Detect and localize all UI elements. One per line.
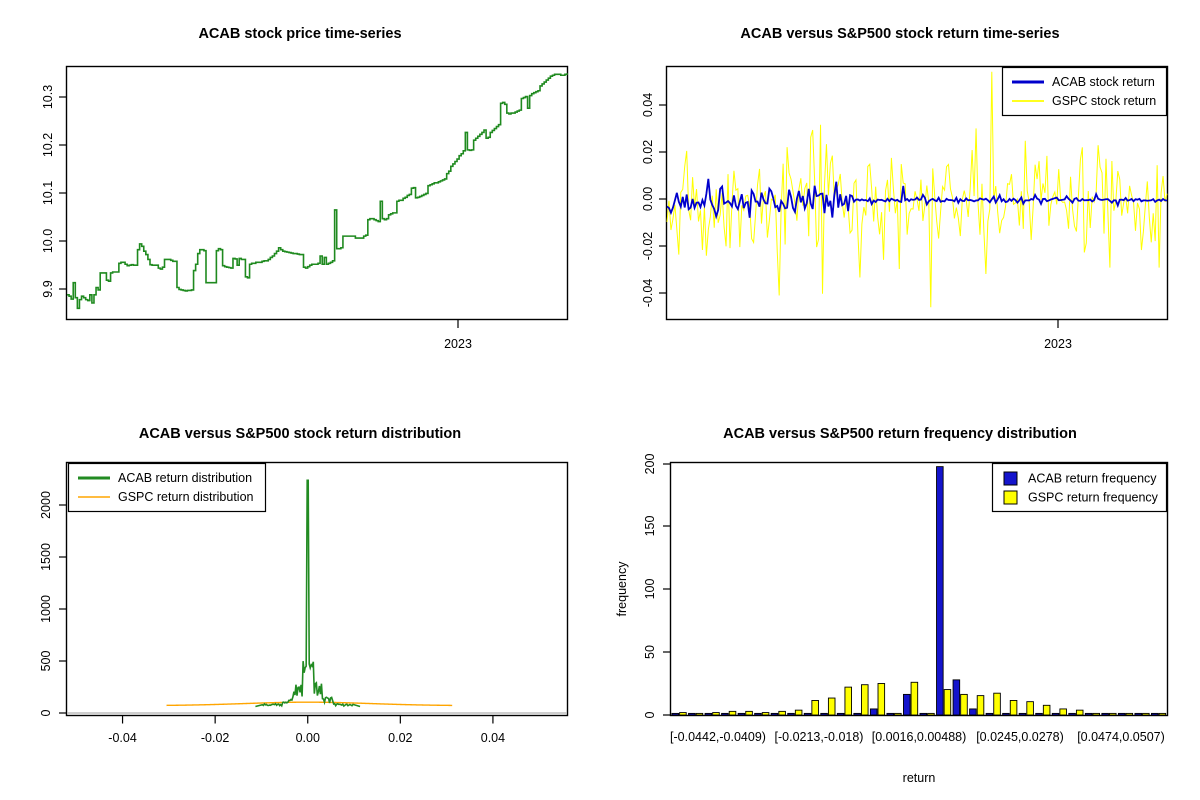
y-tick-label: 0 [39,709,53,716]
bar-acab [821,713,828,715]
bar-acab [920,713,927,715]
bar-gspc [746,711,753,715]
x-bin-label: [0.0245,0.0278) [976,730,1064,744]
bar-gspc [1093,713,1100,715]
y-axis-ticks [59,505,66,713]
bar-gspc [928,713,935,715]
bar-acab [705,713,712,715]
panel-acab-gspc-return-distribution: ACAB versus S&P500 stock return distribu… [0,400,600,800]
bar-acab [903,694,910,715]
x-tick-label: -0.02 [201,731,230,745]
bar-acab [854,713,861,715]
y-tick-label: 10.0 [41,229,55,253]
bar-acab [953,680,960,715]
bar-acab [1019,713,1026,715]
bar-gspc [895,713,902,715]
y-tick-label: 50 [643,645,657,659]
x-axis-ticks [123,716,493,724]
legend-swatch-acab-frequency [1004,472,1017,485]
y-axis-labels: 200 150 100 50 0 [643,454,657,719]
bar-gspc [1076,710,1083,715]
y-tick-label: 1000 [39,595,53,623]
legend-label-gspc-frequency: GSPC return frequency [1028,490,1159,504]
y-tick-label: 10.1 [41,181,55,205]
y-tick-label: 10.2 [41,133,55,157]
y-tick-label: 0.00 [641,187,655,211]
bar-gspc [961,694,968,715]
bar-acab [672,713,679,715]
panel-title: ACAB stock price time-series [198,26,401,42]
bar-gspc [795,710,802,715]
bar-gspc [680,713,687,715]
bar-gspc [1043,705,1050,715]
panel-title: ACAB versus S&P500 stock return time-ser… [740,26,1059,42]
bar-gspc [812,700,819,715]
y-tick-label: 150 [643,516,657,537]
y-tick-label: 100 [643,579,657,600]
legend-label-acab-frequency: ACAB return frequency [1028,471,1157,485]
y-tick-label: 10.3 [41,85,55,109]
bar-gspc [1159,713,1166,715]
bar-acab [937,467,944,715]
bar-acab [970,709,977,715]
y-axis-ticks [663,464,670,715]
legend-label-acab-distribution: ACAB return distribution [118,471,252,485]
bar-acab [1151,713,1158,715]
y-axis-title: frequency [615,561,629,617]
bar-gspc [729,711,736,715]
bar-acab [1003,713,1010,715]
acab-price-line [67,73,567,308]
x-tick-label: 0.02 [388,731,412,745]
bar-acab [722,713,729,715]
bar-gspc [944,690,951,715]
bar-gspc [1027,702,1034,715]
panel-acab-price-timeseries: ACAB stock price time-series 10.3 10.2 1… [0,0,600,400]
bar-acab [689,713,696,715]
bar-acab [870,709,877,715]
bar-acab [986,713,993,715]
bar-gspc [994,693,1001,715]
x-bin-label: [0.0474,0.0507) [1077,730,1165,744]
bar-acab [837,713,844,715]
bar-gspc [713,713,720,715]
bar-acab [1102,713,1109,715]
y-tick-label: -0.04 [641,279,655,308]
legend[interactable]: ACAB return frequency GSPC return freque… [993,464,1167,512]
y-axis-labels: 10.3 10.2 10.1 10.0 9.9 [41,85,55,298]
gspc-density-line [167,702,453,705]
acab-density-line [255,480,360,706]
panel-acab-gspc-return-frequency: ACAB versus S&P500 return frequency dist… [600,400,1200,800]
bar-gspc [1060,709,1067,715]
bar-gspc [911,682,918,715]
x-tick-label: 2023 [1044,337,1072,351]
panel-title: ACAB versus S&P500 stock return distribu… [139,426,461,442]
legend-label-gspc-distribution: GSPC return distribution [118,490,254,504]
x-bin-label: [0.0016,0.00488) [872,730,967,744]
y-tick-label: 500 [39,651,53,672]
y-tick-label: 0.02 [641,140,655,164]
bar-acab [804,713,811,715]
x-axis-title: return [903,771,936,785]
bar-acab [1118,713,1125,715]
legend-swatch-gspc-frequency [1004,491,1017,504]
y-axis-labels: 2000 1500 1000 500 0 [39,491,53,716]
y-tick-label: 2000 [39,491,53,519]
y-axis-labels: 0.04 0.02 0.00 -0.02 -0.04 [641,93,655,307]
y-tick-label: -0.02 [641,232,655,261]
bar-acab [1052,713,1059,715]
bar-acab [1036,713,1043,715]
bar-gspc [1126,713,1133,715]
panel-title: ACAB versus S&P500 return frequency dist… [723,426,1077,442]
figure-panel-grid: ACAB stock price time-series 10.3 10.2 1… [0,0,1200,800]
bar-gspc [878,684,885,716]
x-bin-label: [-0.0213,-0.018) [775,730,864,744]
bar-acab [1135,713,1142,715]
bar-acab [755,713,762,715]
bar-acab [1069,713,1076,715]
bar-gspc [762,713,769,715]
legend-label-gspc-return: GSPC stock return [1052,94,1156,108]
bar-acab [738,713,745,715]
x-tick-label: 2023 [444,337,472,351]
bar-gspc [828,698,835,715]
legend[interactable]: ACAB stock return GSPC stock return [1003,68,1167,116]
x-axis-bin-labels: [-0.0442,-0.0409)[-0.0213,-0.018)[0.0016… [670,730,1165,744]
y-tick-label: 9.9 [41,280,55,297]
x-tick-label: 0.00 [296,731,320,745]
y-tick-label: 200 [643,454,657,475]
legend[interactable]: ACAB return distribution GSPC return dis… [69,464,266,512]
bar-gspc [779,711,786,715]
bar-gspc [861,685,868,715]
x-axis-labels: -0.04-0.020.000.020.04 [108,731,505,745]
bar-gspc [1143,713,1150,715]
x-tick-label: 0.04 [481,731,505,745]
x-bin-label: [-0.0442,-0.0409) [670,730,766,744]
y-axis-ticks [659,105,666,293]
bar-gspc [977,696,984,715]
legend-label-acab-return: ACAB stock return [1052,75,1155,89]
y-tick-label: 0 [643,711,657,718]
bar-gspc [1010,700,1017,715]
x-tick-label: -0.04 [108,731,137,745]
bar-gspc [845,687,852,715]
bar-acab [788,713,795,715]
y-axis-ticks [59,97,66,289]
bar-acab [887,713,894,715]
panel-acab-gspc-return-timeseries: ACAB versus S&P500 stock return time-ser… [600,0,1200,400]
bar-acab [771,713,778,715]
y-tick-label: 0.04 [641,93,655,117]
bar-gspc [696,713,703,715]
bar-gspc [1109,713,1116,715]
bar-acab [1085,713,1092,715]
y-tick-label: 1500 [39,543,53,571]
plot-frame [67,67,568,320]
